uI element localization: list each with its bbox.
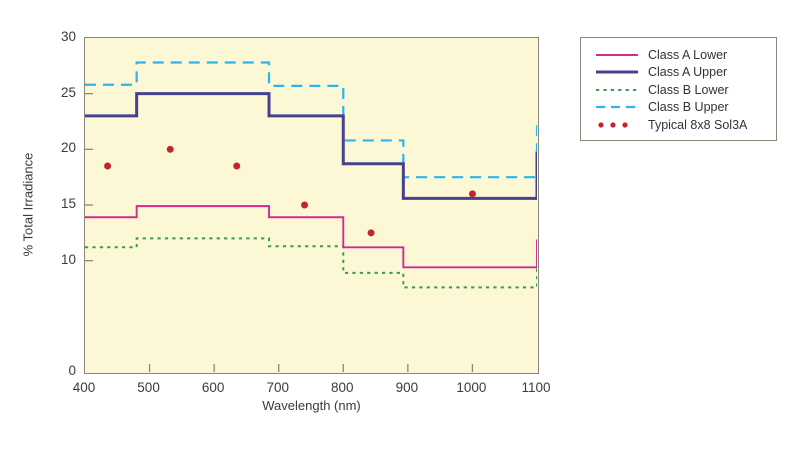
y-axis-title: % Total Irradiance xyxy=(21,115,36,295)
x-tick-label: 1100 xyxy=(506,381,566,395)
plot-svg-canvas xyxy=(85,38,537,372)
solid-darkblue-line-icon xyxy=(595,66,639,78)
series-line-class-a-upper xyxy=(85,94,537,199)
x-tick-label: 500 xyxy=(119,381,179,395)
x-tick-label: 900 xyxy=(377,381,437,395)
legend-item-label: Typical 8x8 Sol3A xyxy=(648,119,747,132)
chart-container: % Total Irradiance 01015202530 400500600… xyxy=(0,0,800,459)
y-tick-label: 15 xyxy=(36,197,76,211)
legend-item[interactable]: Class A Lower xyxy=(595,46,776,64)
dashed-cyan-line-icon xyxy=(595,101,639,113)
red-dot-markers-icon xyxy=(595,119,639,131)
scatter-point xyxy=(167,146,174,153)
x-tick-label: 600 xyxy=(183,381,243,395)
scatter-point xyxy=(368,229,375,236)
dotted-green-line-icon xyxy=(595,84,639,96)
scatter-point xyxy=(233,163,240,170)
y-tick-label: 30 xyxy=(36,30,76,44)
chart-legend: Class A LowerClass A UpperClass B LowerC… xyxy=(580,37,777,141)
legend-dot xyxy=(610,122,615,127)
legend-dot xyxy=(622,122,627,127)
y-tick-label: 25 xyxy=(36,86,76,100)
x-tick-label: 400 xyxy=(54,381,114,395)
legend-dot xyxy=(598,122,603,127)
legend-item[interactable]: Class A Upper xyxy=(595,64,776,82)
scatter-point xyxy=(301,202,308,209)
legend-item[interactable]: Typical 8x8 Sol3A xyxy=(595,116,776,134)
solid-magenta-line-icon xyxy=(595,49,639,61)
series-line-class-a-lower xyxy=(85,206,537,267)
y-tick-label: 0 xyxy=(36,364,76,378)
y-tick-label: 20 xyxy=(36,141,76,155)
y-tick-label: 10 xyxy=(36,253,76,267)
series-line-class-b-upper xyxy=(85,62,537,177)
scatter-point xyxy=(469,190,476,197)
legend-item-label: Class B Upper xyxy=(648,101,729,114)
legend-item-label: Class A Lower xyxy=(648,49,727,62)
series-line-class-b-lower xyxy=(85,238,537,287)
axis-tick-marks xyxy=(85,94,472,372)
x-axis-title: Wavelength (nm) xyxy=(84,398,539,413)
legend-item-label: Class A Upper xyxy=(648,66,727,79)
x-tick-label: 1000 xyxy=(441,381,501,395)
x-tick-label: 700 xyxy=(248,381,308,395)
plot-area xyxy=(84,37,539,374)
legend-item[interactable]: Class B Lower xyxy=(595,81,776,99)
legend-item[interactable]: Class B Upper xyxy=(595,99,776,117)
scatter-series-typical-8x8-sol3a xyxy=(104,146,476,236)
scatter-point xyxy=(104,163,111,170)
legend-item-label: Class B Lower xyxy=(648,84,729,97)
x-tick-label: 800 xyxy=(312,381,372,395)
